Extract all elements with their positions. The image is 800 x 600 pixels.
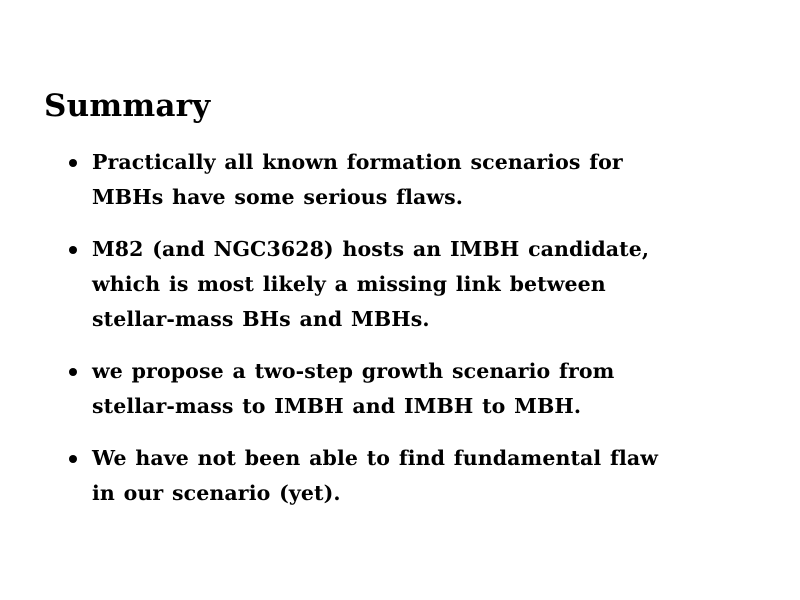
list-item-text: Practically all known formation scenario… bbox=[92, 145, 766, 215]
list-item: we propose a two-step growth scenario fr… bbox=[66, 354, 766, 424]
list-item-text: M82 (and NGC3628) hosts an IMBH candidat… bbox=[92, 232, 766, 337]
list-item: M82 (and NGC3628) hosts an IMBH candidat… bbox=[66, 232, 766, 337]
bullet-point-icon bbox=[69, 368, 77, 376]
list-item-text: We have not been able to find fundamenta… bbox=[92, 441, 766, 511]
list-item: Practically all known formation scenario… bbox=[66, 145, 766, 215]
page-title: Summary bbox=[44, 89, 210, 123]
bullet-point-icon bbox=[69, 455, 77, 463]
list-item: We have not been able to find fundamenta… bbox=[66, 441, 766, 511]
bullet-point-icon bbox=[69, 159, 77, 167]
list-item-text: we propose a two-step growth scenario fr… bbox=[92, 354, 766, 424]
summary-bullet-list: Practically all known formation scenario… bbox=[66, 145, 766, 511]
bullet-point-icon bbox=[69, 246, 77, 254]
presentation-slide: Summary Practically all known formation … bbox=[0, 0, 800, 600]
